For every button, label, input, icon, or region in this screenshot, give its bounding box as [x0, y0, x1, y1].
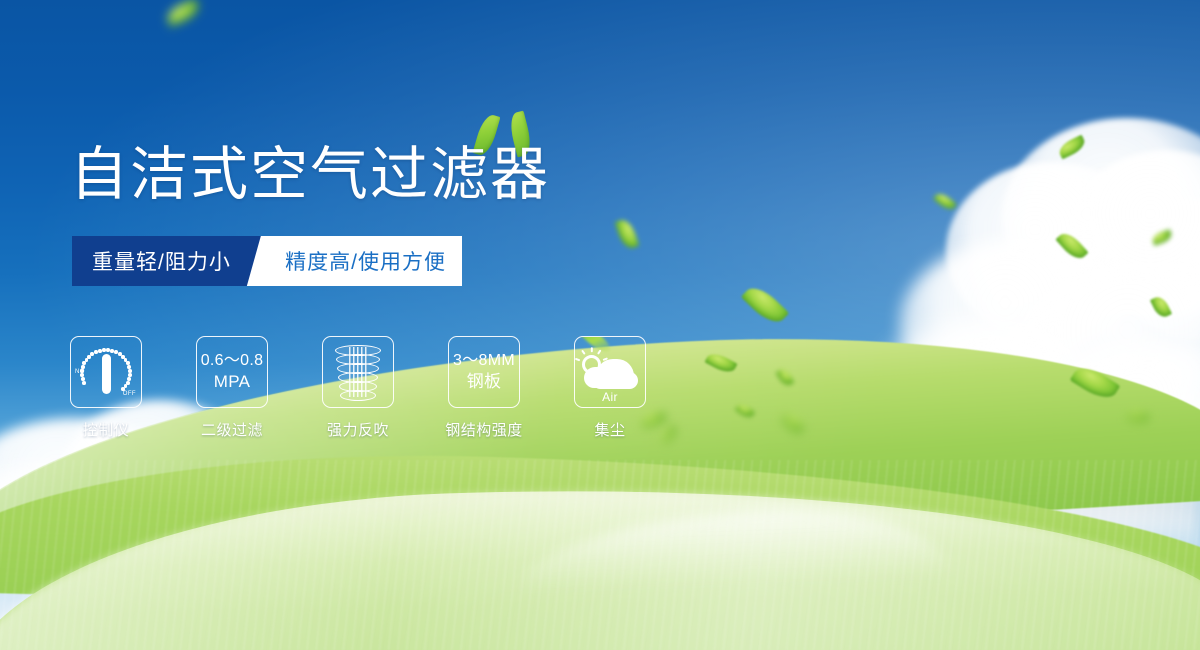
gauge-tick-icon	[82, 361, 86, 365]
feature-label: 控制仪	[83, 419, 130, 440]
pressure-value: 0.6〜0.8	[201, 352, 264, 369]
feature-item-two-stage-filter[interactable]: 0.6〜0.8 MPA 二级过滤	[196, 336, 268, 440]
feature-item-dust-collection[interactable]: Air 集尘	[574, 336, 646, 440]
gauge-tick-icon	[102, 348, 106, 352]
feature-icon-box	[322, 336, 394, 408]
feature-label: 强力反吹	[327, 419, 389, 440]
feature-label: 钢结构强度	[445, 419, 523, 440]
gauge-tick-icon	[106, 348, 110, 352]
feature-icon-box: 0.6〜0.8 MPA	[196, 336, 268, 408]
tagline-bar: 精度高/使用方便 重量轻/阻力小	[72, 236, 462, 286]
sun-ray-icon	[576, 358, 581, 362]
gauge-tick-icon	[80, 373, 84, 377]
sun-ray-icon	[581, 350, 586, 355]
tagline-left-segment: 重量轻/阻力小	[72, 236, 261, 286]
air-cloud-icon: Air	[578, 342, 642, 402]
steel-thickness: 3〜8MM	[453, 352, 515, 369]
gauge-tick-icon	[82, 381, 86, 385]
pressure-unit: MPA	[201, 371, 264, 393]
gauge-tick-icon	[121, 387, 125, 391]
pleat-ring-icon	[340, 390, 376, 401]
feature-icon-box: NO OFF	[70, 336, 142, 408]
air-text: Air	[578, 390, 642, 404]
feature-label: 集尘	[594, 419, 625, 440]
pressure-text-icon: 0.6〜0.8 MPA	[201, 351, 264, 393]
steel-plate-text-icon: 3〜8MM 钢板	[453, 351, 515, 393]
feature-icon-box: Air	[574, 336, 646, 408]
page-title: 自洁式空气过滤器	[70, 146, 550, 204]
sun-ray-icon	[590, 348, 592, 353]
gauge-label-off: OFF	[123, 391, 136, 397]
gauge-tick-icon	[81, 377, 85, 381]
gauge-tick-icon	[80, 369, 84, 373]
feature-list: NO OFF 控制仪 0.6〜0.8 MPA 二级过滤 强	[70, 336, 646, 440]
gauge-icon: NO OFF	[75, 343, 137, 401]
green-streak-icon	[574, 336, 614, 356]
feature-item-strong-blowback[interactable]: 强力反吹	[322, 336, 394, 440]
product-banner: 自洁式空气过滤器 精度高/使用方便 重量轻/阻力小 NO OFF 控制仪	[0, 0, 1200, 650]
cloud-shape-c	[592, 372, 638, 389]
feature-item-controller[interactable]: NO OFF 控制仪	[70, 336, 142, 440]
pleated-filter-icon	[330, 343, 386, 401]
steel-material: 钢板	[453, 371, 515, 393]
gauge-tick-icon	[81, 365, 85, 369]
tagline-left-text: 重量轻/阻力小	[92, 246, 231, 276]
tagline-right-text: 精度高/使用方便	[285, 246, 446, 276]
feature-label: 二级过滤	[201, 419, 263, 440]
gauge-needle-icon	[102, 354, 111, 394]
feature-item-steel-strength[interactable]: 3〜8MM 钢板 钢结构强度	[448, 336, 520, 440]
feature-icon-box: 3〜8MM 钢板	[448, 336, 520, 408]
gauge-tick-icon	[98, 349, 102, 353]
grass-texture	[0, 460, 1200, 650]
gauge-tick-icon	[85, 358, 89, 362]
